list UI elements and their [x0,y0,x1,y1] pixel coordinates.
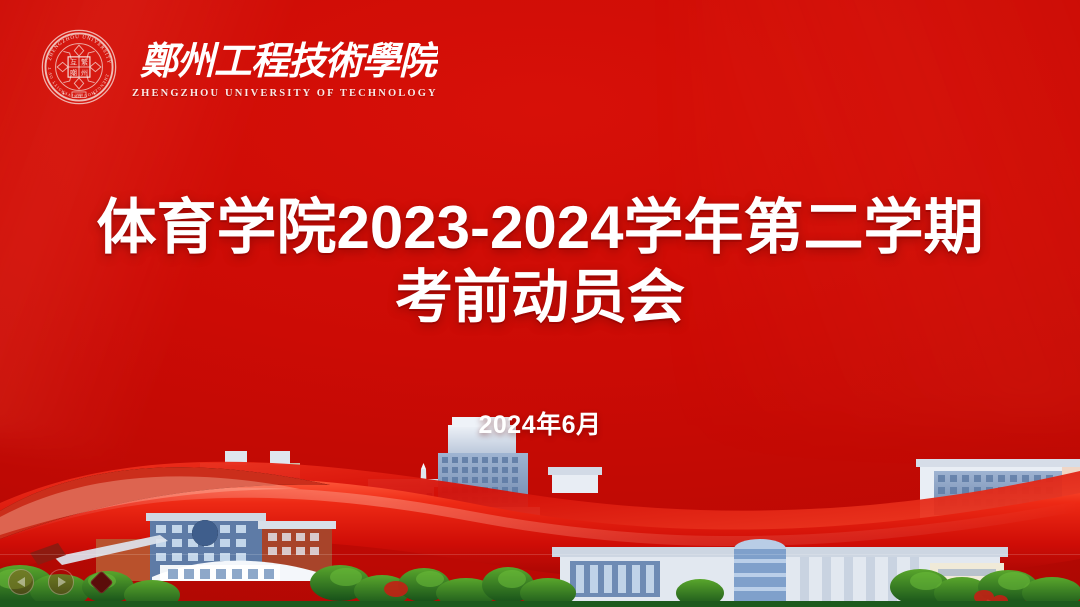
home-button[interactable] [88,569,114,595]
svg-text:繁: 繁 [81,58,88,67]
slide-controls [8,569,114,595]
building-far-left-cap [548,467,602,493]
university-logo: ZHENGZHOU UNIVERSITY OF TECHNOLOGY ZHENG… [40,28,438,106]
title-block: 体育学院2023-2024学年第二学期 考前动员会 [0,193,1080,333]
play-slide-button[interactable] [48,569,74,595]
page-title-line2: 考前动员会 [0,263,1080,333]
previous-arrow-icon [17,577,25,587]
progress-bar[interactable] [0,554,1080,555]
svg-text:1980: 1980 [75,93,83,98]
university-seal-emblem: ZHENGZHOU UNIVERSITY OF TECHNOLOGY ZHENG… [40,28,118,106]
logo-text-block: 鄭州工程技術學院 ZHENGZHOU UNIVERSITY OF TECHNOL… [132,36,438,99]
ground-strip [0,601,1080,607]
svg-text:鄭州工程技術學院: 鄭州工程技術學院 [140,41,438,83]
svg-text:州: 州 [81,69,88,77]
page-title-line1: 体育学院2023-2024学年第二学期 [0,193,1080,263]
logo-name-en: ZHENGZHOU UNIVERSITY OF TECHNOLOGY [132,88,438,99]
svg-text:嘲: 嘲 [70,69,77,77]
logo-name-cn: 鄭州工程技術學院 [132,36,438,86]
page-subtitle-date: 2024年6月 [0,405,1080,441]
presentation-slide: ZHENGZHOU UNIVERSITY OF TECHNOLOGY ZHENG… [0,0,1080,607]
svg-text:互: 互 [70,59,77,67]
play-arrow-icon [58,577,66,587]
prev-slide-button[interactable] [8,569,34,595]
home-diamond-icon [89,570,113,594]
